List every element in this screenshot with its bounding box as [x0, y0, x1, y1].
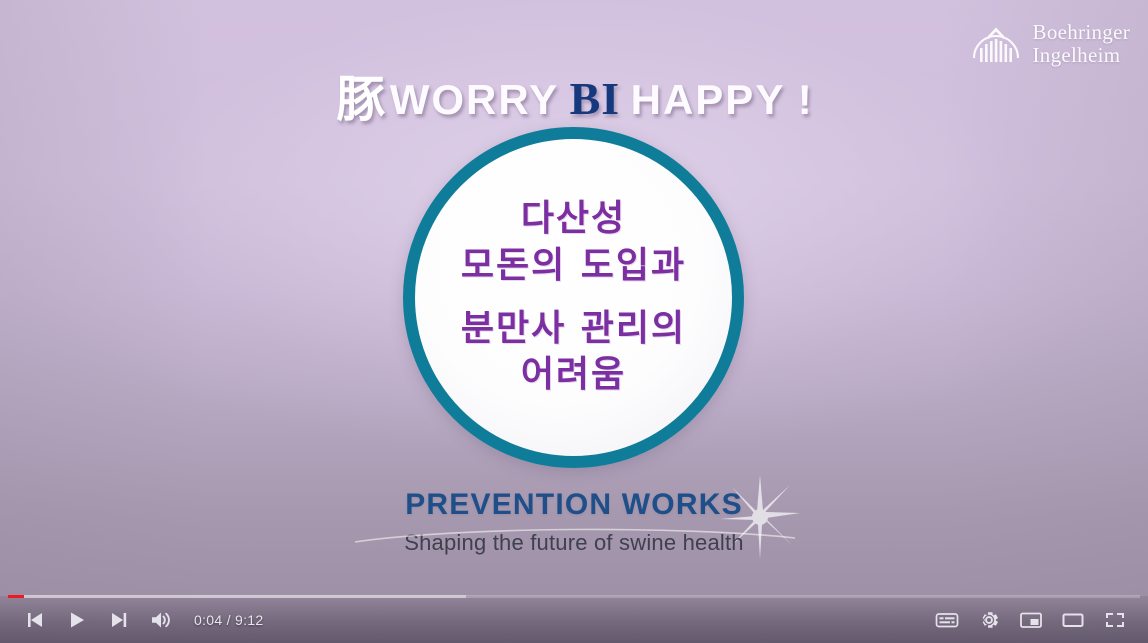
volume-high-icon	[150, 610, 172, 630]
controls-left-group: 0:04 / 9:12	[14, 601, 263, 639]
circle-line-3: 분만사 관리의	[461, 306, 686, 353]
slide-headline: 豚 WORRY BI HAPPY !	[0, 60, 1148, 131]
video-player: Boehringer Ingelheim 豚 WORRY BI HAPPY ! …	[0, 0, 1148, 643]
campaign-subtitle: Shaping the future of swine health	[0, 530, 1148, 556]
settings-button[interactable]	[968, 601, 1010, 639]
circle-line-4: 어려움	[521, 352, 626, 399]
progress-track[interactable]	[8, 595, 1140, 598]
theater-mode-icon	[1061, 610, 1085, 630]
subtitles-icon	[935, 610, 959, 630]
subtitles-button[interactable]	[926, 601, 968, 639]
circle-line-2: 모돈의 도입과	[461, 243, 686, 290]
previous-button[interactable]	[14, 601, 56, 639]
headline-brand-bi: BI	[564, 73, 627, 124]
gear-icon	[978, 609, 1000, 631]
progress-loaded	[8, 595, 466, 598]
campaign-title: PREVENTION WORKS	[0, 488, 1148, 522]
theater-button[interactable]	[1052, 601, 1094, 639]
previous-track-icon	[25, 610, 45, 630]
controls-right-group	[926, 601, 1136, 639]
time-display: 0:04 / 9:12	[194, 612, 263, 628]
headline-exclamation: !	[790, 76, 812, 123]
next-track-icon	[109, 610, 129, 630]
next-button[interactable]	[98, 601, 140, 639]
player-controls-bar: 0:04 / 9:12	[0, 596, 1148, 643]
video-surface[interactable]: Boehringer Ingelheim 豚 WORRY BI HAPPY ! …	[0, 0, 1148, 643]
headline-kanji: 豚	[336, 71, 385, 128]
campaign-block: PREVENTION WORKS Shaping the future of s…	[0, 488, 1148, 556]
play-icon	[67, 610, 87, 630]
circle-line-1: 다산성	[521, 196, 626, 243]
headline-word-happy: HAPPY	[631, 76, 786, 123]
play-button[interactable]	[56, 601, 98, 639]
logo-line-1: Boehringer	[1033, 21, 1130, 44]
fullscreen-button[interactable]	[1094, 601, 1136, 639]
headline-word-worry: WORRY	[390, 76, 559, 123]
fullscreen-icon	[1104, 610, 1126, 630]
miniplayer-icon	[1019, 610, 1043, 630]
miniplayer-button[interactable]	[1010, 601, 1052, 639]
progress-played	[8, 595, 24, 598]
volume-button[interactable]	[140, 601, 182, 639]
slide-circle: 다산성 모돈의 도입과 분만사 관리의 어려움	[403, 127, 744, 468]
